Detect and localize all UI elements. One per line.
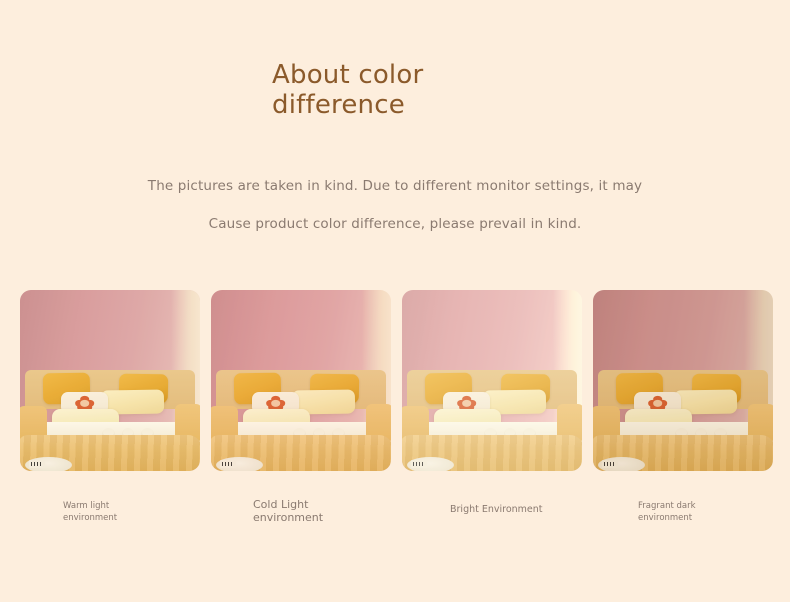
page-title: About color difference [272,60,612,120]
disclaimer-line-1: The pictures are taken in kind. Due to d… [0,178,790,194]
disclaimer-line-2: Cause product color difference, please p… [0,216,790,232]
product-photo-gallery [20,290,770,471]
page-title-line-2: difference [272,90,612,120]
product-tag [29,460,45,468]
product-photo-bright[interactable] [402,290,582,471]
product-tag [602,460,618,468]
product-photo-warm-light[interactable] [20,290,200,471]
flower-icon [75,396,95,410]
photo-caption-cold-light: Cold Light environment [253,498,323,524]
product-photo-dark[interactable] [593,290,773,471]
flower-icon [457,396,477,410]
product-photo-cold-light[interactable] [211,290,391,471]
page-title-line-1: About color [272,60,423,90]
flower-icon [648,396,668,410]
photo-caption-warm-light: Warm light environment [63,500,117,524]
photo-caption-bright: Bright Environment [450,504,543,516]
product-tag [220,460,236,468]
color-difference-section: About color difference The pictures are … [0,0,790,602]
flower-icon [266,396,286,410]
photo-caption-dark: Fragrant dark environment [638,500,696,524]
product-tag [411,460,427,468]
